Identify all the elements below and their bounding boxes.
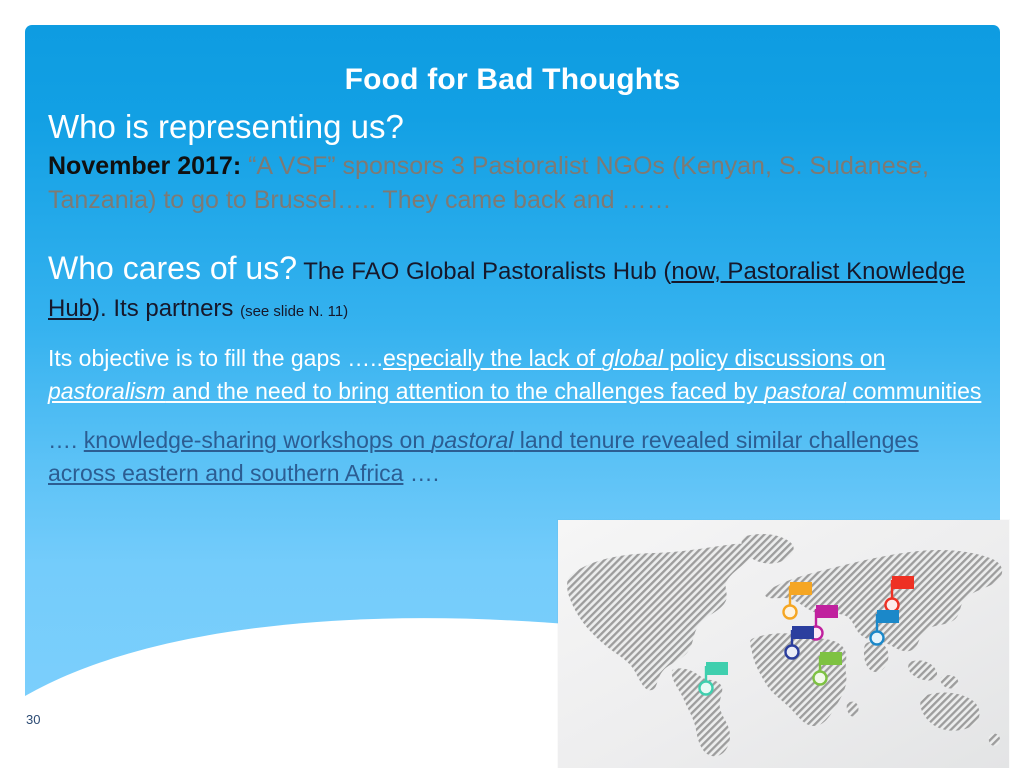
slide-canvas: Food for Bad Thoughts Who is representin… bbox=[0, 0, 1024, 768]
page-title: Food for Bad Thoughts bbox=[25, 63, 1000, 97]
november-line: November 2017: “A VSF” sponsors 3 Pastor… bbox=[48, 149, 988, 217]
objective-italic-global: global bbox=[602, 345, 663, 371]
world-map-image bbox=[558, 520, 1009, 768]
heading-who-is-representing: Who is representing us? bbox=[48, 108, 988, 146]
workshops-underline-1: knowledge-sharing workshops on bbox=[84, 427, 432, 453]
objective-plain-text: Its objective is to fill the gaps ….. bbox=[48, 345, 383, 371]
objective-underline-4: communities bbox=[846, 378, 981, 404]
november-label: November 2017: bbox=[48, 152, 241, 180]
workshops-paragraph: …. knowledge-sharing workshops on pastor… bbox=[48, 424, 988, 490]
who-cares-block: Who cares of us? The FAO Global Pastoral… bbox=[48, 250, 988, 330]
slide-body: Who is representing us? November 2017: “… bbox=[48, 108, 988, 490]
workshops-trailing-dots: …. bbox=[403, 460, 439, 486]
heading-who-cares: Who cares of us? bbox=[48, 250, 297, 286]
objective-italic-pastoral: pastoral bbox=[764, 378, 846, 404]
workshops-leading-dots: …. bbox=[48, 427, 84, 453]
world-map-svg bbox=[558, 520, 1009, 768]
cares-slide-note: (see slide N. 11) bbox=[240, 303, 348, 320]
objective-underline-3: and the need to bring attention to the c… bbox=[166, 378, 764, 404]
objective-underline-1: especially the lack of bbox=[383, 345, 602, 371]
cares-text-part-2: ). Its partners bbox=[92, 295, 240, 322]
cares-text-part-1: The FAO Global Pastoralists Hub ( bbox=[297, 258, 671, 285]
objective-underline-2: policy discussions on bbox=[663, 345, 885, 371]
objective-italic-pastoralism: pastoralism bbox=[48, 378, 166, 404]
slide-number: 30 bbox=[26, 712, 40, 727]
objective-paragraph: Its objective is to fill the gaps …..esp… bbox=[48, 342, 988, 408]
workshops-italic-pastoral: pastoral bbox=[432, 427, 514, 453]
